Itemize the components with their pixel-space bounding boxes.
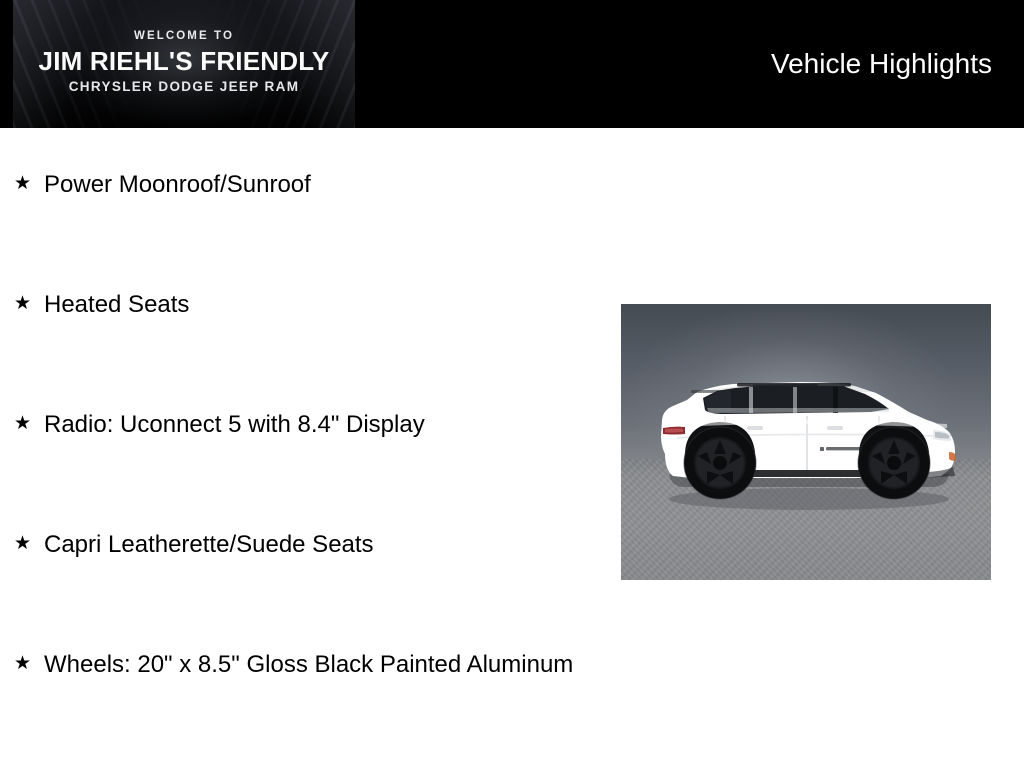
star-bullet-icon: ★ xyxy=(14,294,31,313)
vehicle-side-profile-photo xyxy=(621,304,991,580)
logo-brands-line: CHRYSLER DODGE JEEP RAM xyxy=(13,80,355,95)
list-item-label: Capri Leatherette/Suede Seats xyxy=(44,529,610,561)
vehicle-highlights-list: ★ Power Moonroof/Sunroof ★ Heated Seats … xyxy=(0,128,620,728)
suv-vector-icon xyxy=(621,304,991,580)
star-bullet-icon: ★ xyxy=(14,654,31,673)
list-item-label: Heated Seats xyxy=(44,289,610,321)
dealership-logo-text: WELCOME TO JIM RIEHL'S FRIENDLY CHRYSLER… xyxy=(13,30,355,95)
list-item: ★ Capri Leatherette/Suede Seats xyxy=(0,488,620,608)
star-bullet-icon: ★ xyxy=(14,534,31,553)
list-item-label: Power Moonroof/Sunroof xyxy=(44,169,610,201)
list-item: ★ Power Moonroof/Sunroof xyxy=(0,128,620,248)
logo-dealer-name: JIM RIEHL'S FRIENDLY xyxy=(13,46,355,77)
dealership-logo: WELCOME TO JIM RIEHL'S FRIENDLY CHRYSLER… xyxy=(13,0,355,128)
list-item: ★ Radio: Uconnect 5 with 8.4" Display xyxy=(0,368,620,488)
list-item: ★ Heated Seats xyxy=(0,248,620,368)
logo-welcome-line: WELCOME TO xyxy=(13,30,355,43)
list-item-label: Wheels: 20" x 8.5" Gloss Black Painted A… xyxy=(44,649,610,681)
page-title: Vehicle Highlights xyxy=(771,50,992,78)
list-item: ★ Wheels: 20" x 8.5" Gloss Black Painted… xyxy=(0,608,620,728)
list-item-label: Radio: Uconnect 5 with 8.4" Display xyxy=(44,409,610,441)
star-bullet-icon: ★ xyxy=(14,174,31,193)
page-header: WELCOME TO JIM RIEHL'S FRIENDLY CHRYSLER… xyxy=(0,0,1024,128)
star-bullet-icon: ★ xyxy=(14,414,31,433)
